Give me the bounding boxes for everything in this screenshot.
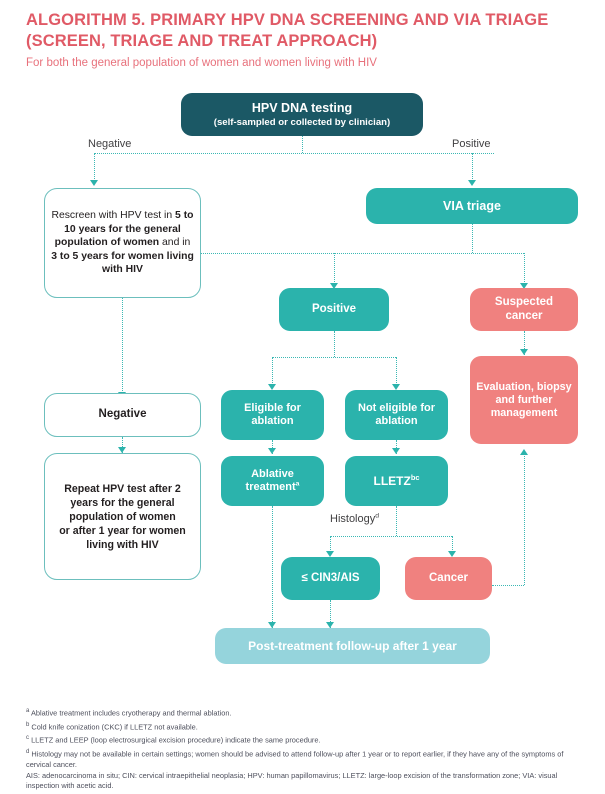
connector-hpv-down: [302, 136, 303, 153]
arrow-cancer-to-evaluation: [520, 449, 528, 455]
node-hpv-dna-testing[interactable]: HPV DNA testing (self-sampled or collect…: [181, 93, 423, 136]
node-cin3-ais[interactable]: ≤ CIN3/AIS: [281, 557, 380, 600]
node-evaluation-biopsy[interactable]: Evaluation, biopsy and further managemen…: [470, 356, 578, 444]
node-lletz-label: LLETZ: [373, 474, 410, 488]
arrow-eligible-to-ablative: [268, 448, 276, 454]
edge-label-negative: Negative: [88, 138, 131, 150]
footnote-b: b Cold knife conization (CKC) if LLETZ n…: [26, 720, 582, 733]
node-positive-label: Positive: [285, 303, 383, 317]
connector-positive-split-down: [334, 331, 335, 357]
node-cancer-label: Cancer: [411, 572, 486, 586]
node-ablative-treatment-label: Ablative treatment: [246, 468, 296, 493]
node-negative-label: Negative: [51, 408, 194, 422]
connector-to-not-eligible: [396, 357, 397, 385]
connector-cancer-right: [492, 585, 524, 586]
footnote-d-text: Histology may not be available in certai…: [26, 749, 563, 769]
edge-label-positive: Positive: [452, 138, 491, 150]
connector-hpv-split: [94, 153, 494, 154]
node-eligible-label: Eligible for ablation: [227, 402, 318, 428]
node-hpv-dna-testing-line2: (self-sampled or collected by clinician): [187, 117, 417, 128]
footnote-d: d Histology may not be available in cert…: [26, 747, 582, 771]
node-ablative-treatment[interactable]: Ablative treatmenta: [221, 456, 324, 506]
connector-to-positive: [334, 253, 335, 284]
edge-label-histology: Histologyd: [330, 513, 379, 525]
arrow-positive-down: [468, 180, 476, 186]
connector-negative-down: [94, 153, 95, 181]
arrow-noteligible-to-lletz: [392, 448, 400, 454]
edge-label-histology-sup: d: [375, 512, 379, 519]
abbreviations-text: AIS: adenocarcinoma in situ; CIN: cervic…: [26, 771, 582, 792]
connector-histology-split: [330, 536, 452, 537]
footnote-d-marker: d: [26, 749, 29, 755]
node-post-treatment-label: Post-treatment follow-up after 1 year: [221, 639, 484, 653]
node-evaluation-label: Evaluation, biopsy and further managemen…: [476, 381, 572, 420]
node-repeat-hpv-line2: or after 1 year for women living with HI…: [51, 524, 194, 552]
footnote-c: c LLETZ and LEEP (loop electrosurgical e…: [26, 733, 582, 746]
footnote-a-text: Ablative treatment includes cryotherapy …: [31, 708, 231, 717]
connector-to-eligible: [272, 357, 273, 385]
algorithm-flowchart-page: ALGORITHM 5. PRIMARY HPV DNA SCREENING A…: [0, 0, 605, 794]
connector-positive-split: [272, 357, 396, 358]
connector-lletz-down: [396, 506, 397, 536]
node-rescreen-hpv[interactable]: Rescreen with HPV test in 5 to 10 years …: [44, 188, 201, 298]
node-not-eligible-for-ablation[interactable]: Not eligible for ablation: [345, 390, 448, 440]
connector-cancer-up: [524, 452, 525, 585]
node-repeat-hpv-line1: Repeat HPV test after 2 years for the ge…: [51, 482, 194, 524]
node-lletz[interactable]: LLETZbc: [345, 456, 448, 506]
node-via-triage[interactable]: VIA triage: [366, 188, 578, 224]
connector-via-down: [472, 224, 473, 253]
footnote-c-text: LLETZ and LEEP (loop electrosurgical exc…: [31, 736, 321, 745]
node-cin3-ais-label: ≤ CIN3/AIS: [287, 572, 374, 586]
footnote-a: a Ablative treatment includes cryotherap…: [26, 706, 582, 719]
node-rescreen-seg3: and in: [159, 237, 190, 248]
node-not-eligible-label: Not eligible for ablation: [351, 402, 442, 428]
node-hpv-dna-testing-line1: HPV DNA testing: [187, 101, 417, 116]
arrow-suspected-to-evaluation: [520, 349, 528, 355]
connector-ablative-to-post: [272, 506, 273, 628]
node-cancer[interactable]: Cancer: [405, 557, 492, 600]
node-positive[interactable]: Positive: [279, 288, 389, 331]
node-lletz-sup: bc: [411, 473, 420, 482]
node-negative[interactable]: Negative: [44, 393, 201, 437]
node-rescreen-seg1: Rescreen with HPV test in: [51, 210, 175, 221]
connector-to-suspected: [524, 253, 525, 284]
node-ablative-treatment-sup: a: [296, 480, 300, 487]
node-via-triage-label: VIA triage: [372, 199, 572, 214]
footnote-b-text: Cold knife conization (CKC) if LLETZ not…: [31, 722, 197, 731]
node-post-treatment-followup[interactable]: Post-treatment follow-up after 1 year: [215, 628, 490, 664]
node-rescreen-seg4: 3 to 5 years for women living with HIV: [51, 251, 194, 275]
connector-positive-down: [472, 153, 473, 181]
edge-label-histology-text: Histology: [330, 513, 375, 525]
node-repeat-hpv-test[interactable]: Repeat HPV test after 2 years for the ge…: [44, 453, 201, 580]
footnotes-block: a Ablative treatment includes cryotherap…: [26, 706, 582, 793]
page-title: ALGORITHM 5. PRIMARY HPV DNA SCREENING A…: [26, 10, 578, 52]
arrow-negative-down: [90, 180, 98, 186]
footnote-c-marker: c: [26, 735, 29, 741]
footnote-b-marker: b: [26, 722, 29, 728]
footnote-a-marker: a: [26, 708, 29, 714]
node-suspected-cancer-label: Suspected cancer: [476, 296, 572, 323]
node-suspected-cancer[interactable]: Suspected cancer: [470, 288, 578, 331]
page-subtitle: For both the general population of women…: [26, 56, 578, 71]
node-eligible-for-ablation[interactable]: Eligible for ablation: [221, 390, 324, 440]
